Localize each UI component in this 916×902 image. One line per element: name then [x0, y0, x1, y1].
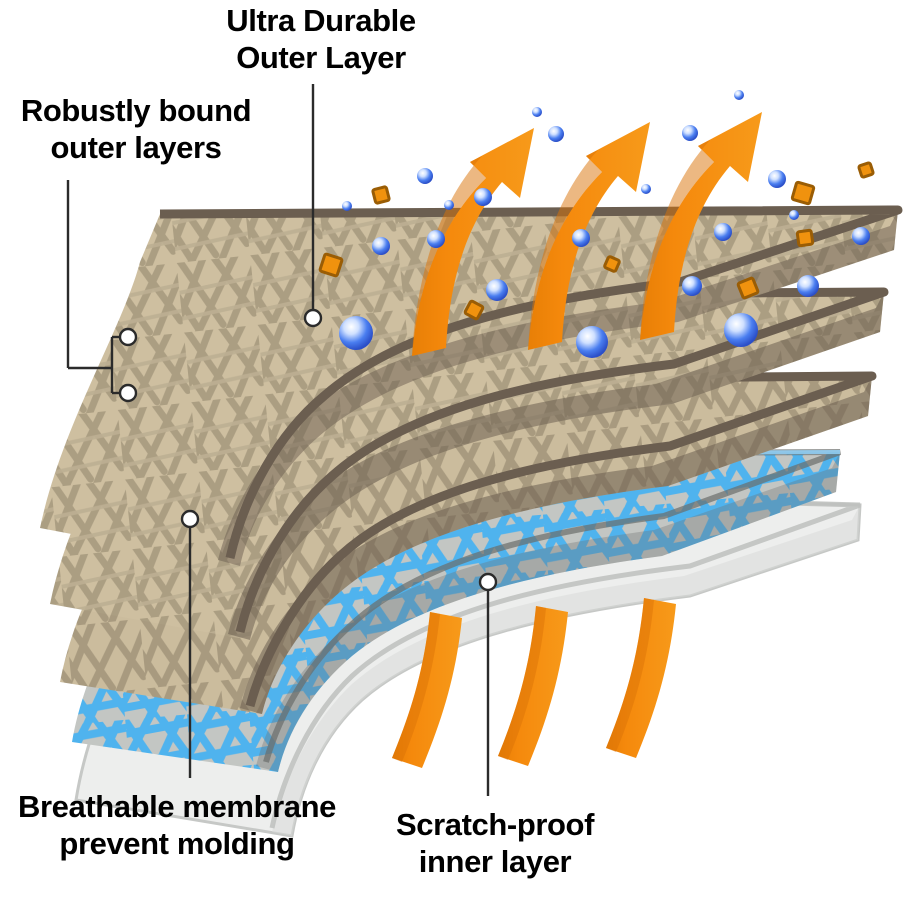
callout-breathable-membrane-prevent-molding: Breathable membrane prevent molding: [2, 788, 352, 862]
callout-scratch-proof-inner-layer: Scratch-proof inner layer: [368, 806, 622, 880]
diagram-canvas: Ultra Durable Outer Layer Robustly bound…: [0, 0, 916, 902]
callout-ultra-durable-outer-layer: Ultra Durable Outer Layer: [195, 2, 447, 76]
callout-robustly-bound-outer-layers: Robustly bound outer layers: [0, 92, 272, 166]
